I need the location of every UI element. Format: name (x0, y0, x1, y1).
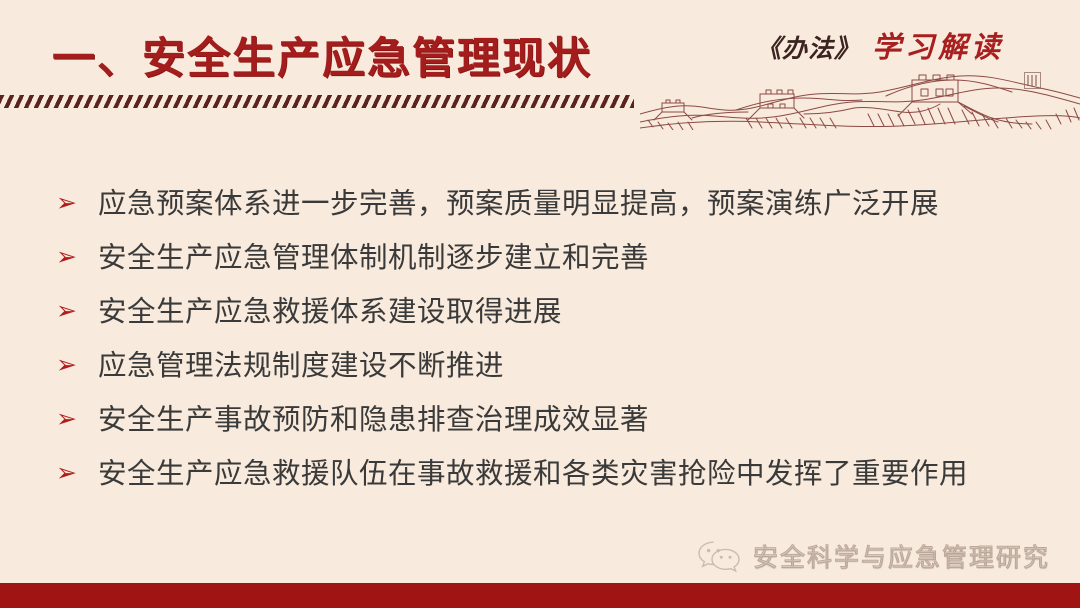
list-item-label: 应急管理法规制度建设不断推进 (98, 340, 1046, 392)
list-item-label: 安全生产事故预防和隐患排查治理成效显著 (98, 394, 1046, 446)
list-item: ➢ 安全生产事故预防和隐患排查治理成效显著 (56, 394, 1046, 448)
arrow-bullet-icon: ➢ (56, 178, 98, 228)
list-item: ➢ 安全生产应急救援队伍在事故救援和各类灾害抢险中发挥了重要作用 (56, 448, 1046, 502)
slide-header: 一、安全生产应急管理现状 《办法》 学习解读 (0, 0, 1080, 130)
arrow-bullet-icon: ➢ (56, 448, 98, 498)
footer-bar (0, 583, 1080, 608)
list-item: ➢ 应急管理法规制度建设不断推进 (56, 340, 1046, 394)
list-item-label: 安全生产应急救援体系建设取得进展 (98, 286, 1046, 338)
wechat-account-name: 安全科学与应急管理研究 (753, 538, 1050, 574)
great-wall-illustration (640, 52, 1080, 130)
arrow-bullet-icon: ➢ (56, 340, 98, 390)
list-item: ➢ 安全生产应急救援体系建设取得进展 (56, 286, 1046, 340)
arrow-bullet-icon: ➢ (56, 232, 98, 282)
presentation-slide: 一、安全生产应急管理现状 《办法》 学习解读 (0, 0, 1080, 608)
bullet-list: ➢ 应急预案体系进一步完善，预案质量明显提高，预案演练广泛开展 ➢ 安全生产应急… (56, 178, 1046, 502)
list-item-label: 应急预案体系进一步完善，预案质量明显提高，预案演练广泛开展 (98, 178, 1046, 230)
list-item: ➢ 应急预案体系进一步完善，预案质量明显提高，预案演练广泛开展 (56, 178, 1046, 232)
arrow-bullet-icon: ➢ (56, 394, 98, 444)
list-item-label: 安全生产应急管理体制机制逐步建立和完善 (98, 232, 1046, 284)
page-title: 一、安全生产应急管理现状 (52, 24, 592, 86)
list-item: ➢ 安全生产应急管理体制机制逐步建立和完善 (56, 232, 1046, 286)
arrow-bullet-icon: ➢ (56, 286, 98, 336)
artist-seal-mark (1024, 72, 1041, 89)
wechat-credit: 安全科学与应急管理研究 (697, 538, 1050, 574)
list-item-label: 安全生产应急救援队伍在事故救援和各类灾害抢险中发挥了重要作用 (98, 448, 1046, 500)
title-divider-hatch (0, 95, 634, 108)
wechat-icon (697, 539, 741, 573)
